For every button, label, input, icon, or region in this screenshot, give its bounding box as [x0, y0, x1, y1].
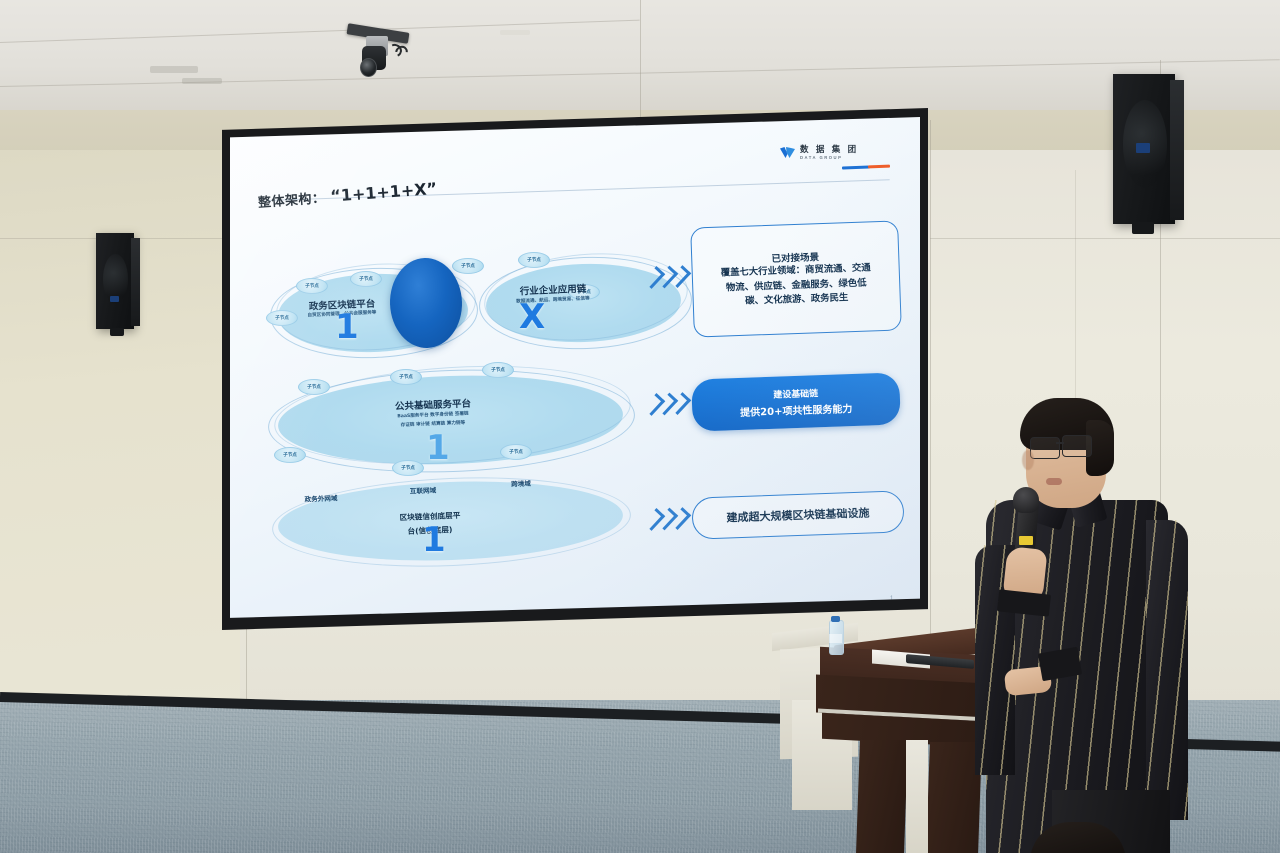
swoosh-logo-icon — [779, 146, 796, 159]
callout-scenarios: 已对接场景 覆盖七大行业领域：商贸流通、交通 物流、供应链、金融服务、绿色低 碳… — [690, 220, 902, 337]
ceiling-vent — [182, 78, 222, 84]
sub-node: 子节点 — [390, 369, 422, 385]
callout-scenarios-line-3: 碳、文化旅游、政务民生 — [745, 291, 849, 309]
callout-base-chain: 建设基础链 提供20+项共性服务能力 — [691, 372, 901, 431]
glasses-bridge — [1056, 442, 1064, 444]
wall-seam — [930, 238, 1280, 239]
sub-node: 子节点 — [298, 379, 330, 395]
page-title: 整体架构：“1+1+1+X” — [257, 179, 437, 211]
chevron-arrow-3 — [648, 508, 687, 529]
microphone-head — [1013, 487, 1039, 513]
logo-accent-bar-blue — [842, 166, 870, 170]
logo-accent-bar-orange — [868, 165, 890, 169]
sub-node: 子节点 — [350, 271, 382, 287]
wall-seam — [640, 0, 641, 130]
jbl-badge-icon — [110, 296, 119, 302]
big-char-x-top: X — [519, 300, 545, 334]
company-logo: 数 据 集 团 DATA GROUP — [779, 146, 858, 160]
callout-base-chain-title: 建设基础链 — [773, 386, 818, 401]
sub-node: 子节点 — [392, 460, 424, 476]
slide-surface: 数 据 集 团 DATA GROUP 整体架构：“1+1+1+X” 子节点 — [230, 114, 920, 622]
glasses-icon — [1062, 435, 1092, 457]
callout-base-chain-line-1: 提供20+项共性服务能力 — [740, 400, 853, 419]
logo-text-cn: 数 据 集 团 — [800, 146, 858, 155]
sub-node: 子节点 — [452, 258, 484, 274]
chevron-arrow-2 — [648, 393, 687, 414]
big-char-one-middle: 1 — [426, 431, 450, 465]
callout-infrastructure-line-1: 建成超大规模区块链基础设施 — [726, 505, 869, 526]
ceiling-vent — [500, 30, 530, 35]
sub-node: 子节点 — [482, 362, 514, 378]
camera-lens-icon — [360, 58, 377, 77]
chevron-arrow-1 — [648, 266, 687, 287]
presentation-slide: 数 据 集 团 DATA GROUP 整体架构：“1+1+1+X” 子节点 — [230, 114, 920, 622]
ceiling-vent — [150, 66, 198, 73]
bottle-label — [829, 634, 842, 643]
logo-text-en: DATA GROUP — [800, 156, 858, 160]
sub-node: 子节点 — [296, 278, 328, 294]
jbl-badge-icon — [1136, 143, 1150, 153]
big-char-one-bottom: 1 — [422, 523, 446, 557]
title-quote: “1+1+1+X” — [330, 179, 438, 206]
title-text: 整体架构： — [258, 191, 326, 211]
sub-node: 子节点 — [274, 447, 306, 463]
callout-infrastructure: 建成超大规模区块链基础设施 — [691, 490, 904, 539]
sub-node: 子节点 — [500, 444, 532, 460]
big-char-one-top: 1 — [335, 310, 359, 344]
glasses-icon — [1030, 437, 1060, 459]
bottle-cap — [831, 616, 840, 622]
conference-room-photo: 数 据 集 团 DATA GROUP 整体架构：“1+1+1+X” 子节点 — [0, 0, 1280, 853]
sub-node: 子节点 — [518, 252, 550, 268]
microphone-label — [1019, 536, 1033, 545]
